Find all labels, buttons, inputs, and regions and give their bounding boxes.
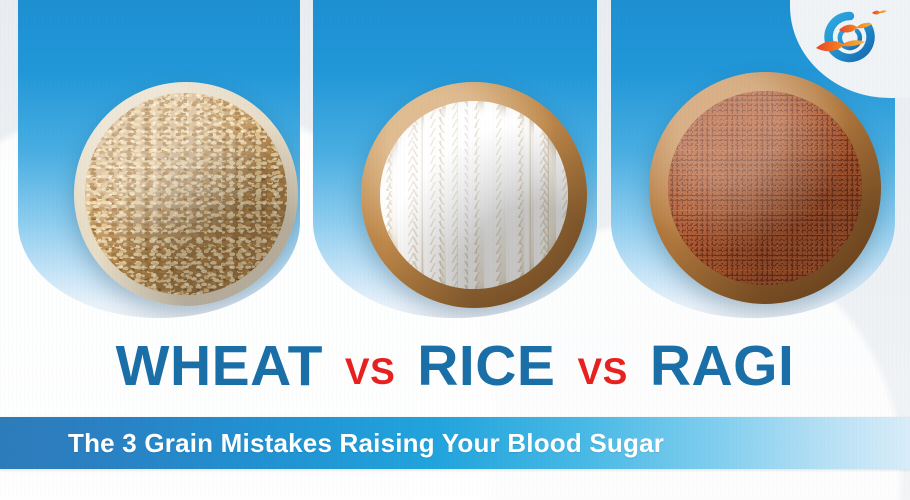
ragi-grain-texture bbox=[668, 91, 863, 286]
grain-panels-row bbox=[0, 0, 910, 318]
poster-canvas: WHEAT VS RICE VS RAGI The 3 Grain Mistak… bbox=[0, 0, 910, 500]
rice-grain-texture bbox=[380, 101, 568, 289]
ragi-bowl-interior bbox=[668, 91, 863, 286]
wheat-grain-texture-fine bbox=[85, 93, 287, 295]
headline-word-rice: RICE bbox=[417, 338, 555, 395]
brand-birds-logo[interactable] bbox=[808, 6, 892, 76]
panel-wheat bbox=[18, 0, 300, 318]
wheat-bowl-interior bbox=[85, 93, 287, 295]
subtitle-text: The 3 Grain Mistakes Raising Your Blood … bbox=[68, 428, 664, 459]
subtitle-banner: The 3 Grain Mistakes Raising Your Blood … bbox=[0, 417, 910, 469]
panel-rice bbox=[313, 0, 597, 318]
white-rice-bowl bbox=[361, 82, 587, 308]
headline-separator-2: VS bbox=[577, 353, 627, 390]
headline-separator-1: VS bbox=[345, 353, 395, 390]
bird-small-icon bbox=[872, 10, 887, 14]
headline-word-wheat: WHEAT bbox=[116, 338, 323, 395]
headline: WHEAT VS RICE VS RAGI bbox=[0, 330, 910, 402]
headline-word-ragi: RAGI bbox=[650, 338, 795, 395]
ragi-millet-bowl bbox=[649, 72, 881, 304]
rice-bowl-interior bbox=[380, 101, 568, 289]
wheat-grains-bowl bbox=[74, 82, 298, 306]
